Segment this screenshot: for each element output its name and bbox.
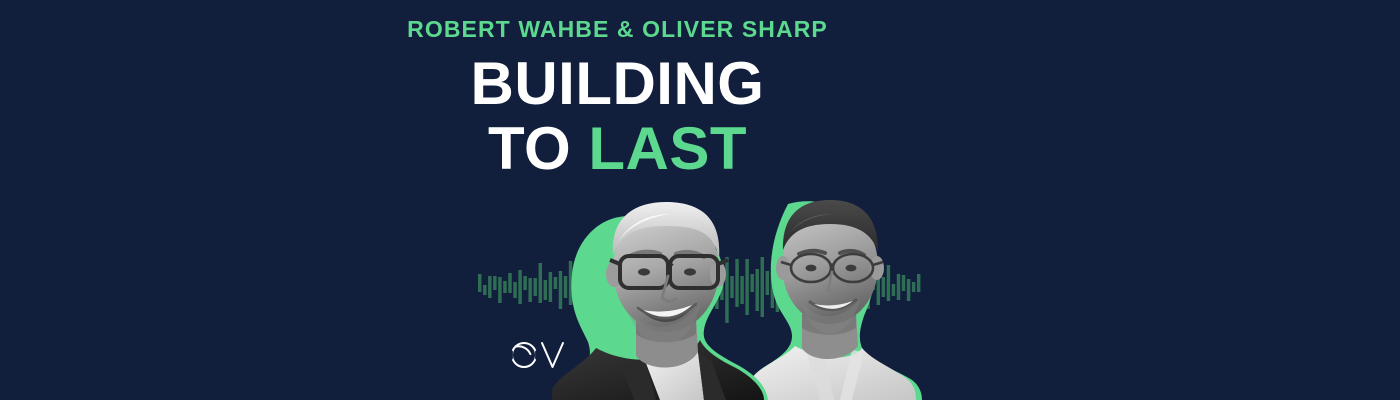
waveform-bar <box>478 274 481 292</box>
waveform-bar <box>513 282 516 298</box>
podcast-banner: ROBERT WAHBE & OLIVER SHARP BUILDING TO … <box>0 0 1400 400</box>
waveform-bar <box>523 276 526 290</box>
ov-logo <box>506 333 570 377</box>
title-block: ROBERT WAHBE & OLIVER SHARP BUILDING TO … <box>0 18 1235 179</box>
hosts-subtitle: ROBERT WAHBE & OLIVER SHARP <box>0 18 1235 41</box>
logo-letter-v <box>542 343 563 367</box>
waveform-bar <box>483 285 486 295</box>
show-title-word-last: LAST <box>588 115 747 182</box>
waveform-bar <box>488 276 491 298</box>
logo-letter-o <box>511 343 537 367</box>
hosts-portrait <box>552 186 924 400</box>
waveform-bar <box>534 278 537 296</box>
waveform-bar <box>539 263 542 303</box>
waveform-bar <box>493 276 496 290</box>
show-title-line-1: BUILDING <box>0 55 1235 114</box>
waveform-bar <box>508 273 511 293</box>
waveform-bar <box>528 278 531 302</box>
portrait-oliver-sharp <box>746 200 922 400</box>
waveform-bar <box>503 281 506 293</box>
show-title-line-2: TO LAST <box>0 120 1235 179</box>
waveform-bar <box>518 270 521 304</box>
waveform-bar <box>544 280 547 300</box>
waveform-bar <box>498 277 501 303</box>
portrait-robert-wahbe <box>552 202 768 400</box>
show-title-word-to: TO <box>488 115 571 182</box>
